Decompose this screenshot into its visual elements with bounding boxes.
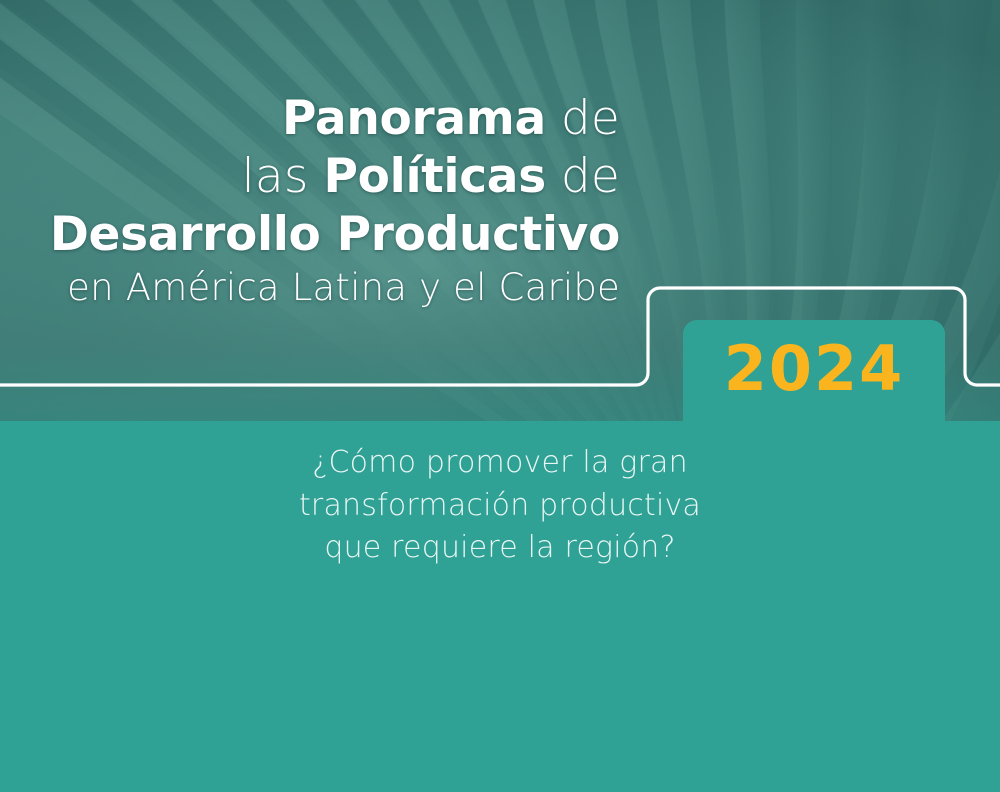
year-badge: 2024 xyxy=(683,320,945,421)
subtitle-line-3: que requiere la región? xyxy=(0,527,1000,570)
subtitle-line-2: transformación productiva xyxy=(0,485,1000,528)
cover-subtitle: ¿Cómo promover la gran transformación pr… xyxy=(0,442,1000,570)
report-cover: Panorama de las Políticas de Desarrollo … xyxy=(0,0,1000,792)
subtitle-line-1: ¿Cómo promover la gran xyxy=(0,442,1000,485)
year-badge-label: 2024 xyxy=(724,338,905,404)
